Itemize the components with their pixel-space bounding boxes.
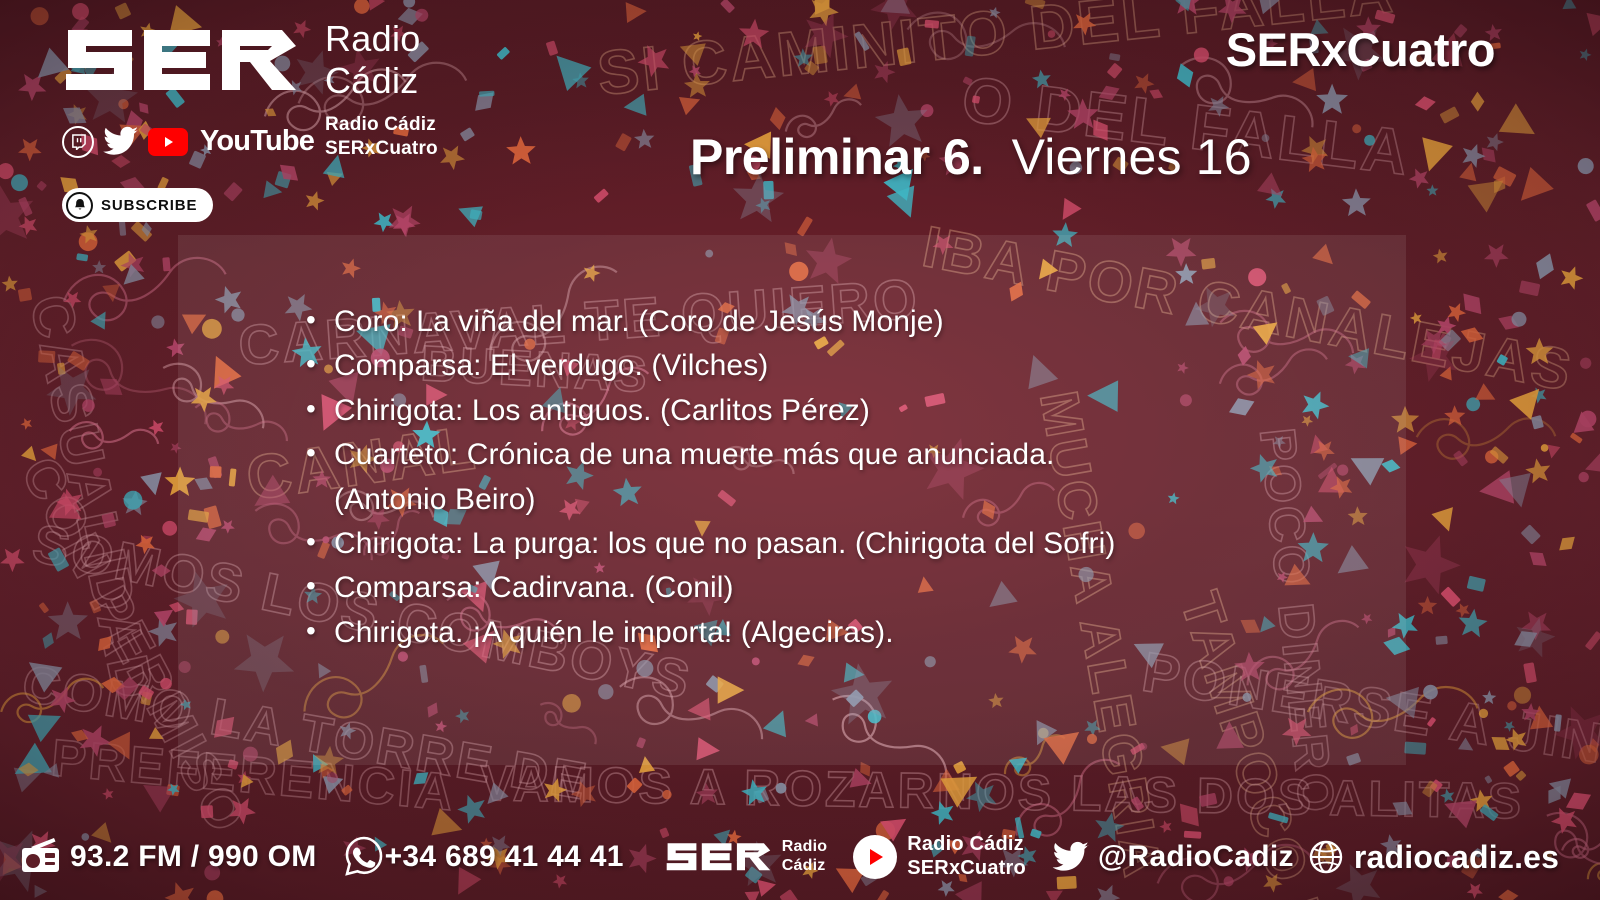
- confetti-diamond: [93, 632, 117, 656]
- confetti-star: [540, 776, 571, 806]
- lineup-item: Chirigota: Los antiguos. (Carlitos Pérez…: [300, 389, 1540, 433]
- twitter-handle: @RadioCadiz: [1098, 840, 1294, 874]
- confetti-rect: [1131, 796, 1145, 811]
- confetti-rect: [39, 602, 50, 614]
- page-title: Preliminar 6.: [690, 128, 984, 186]
- radio-icon: [18, 834, 64, 880]
- lineup-item: Chirigota. ¡A quién le importa! (Algecir…: [300, 611, 1540, 655]
- channel-line-1: Radio Cádiz: [325, 113, 500, 137]
- youtube-wordmark: YouTube: [200, 125, 314, 158]
- confetti-circle: [661, 789, 673, 801]
- bell-glyph: [73, 198, 87, 213]
- lineup-item: (Antonio Beiro): [300, 478, 1540, 522]
- confetti-diamond: [409, 767, 432, 789]
- confetti-circle: [150, 314, 166, 330]
- header: Radio Cádiz Radio Cádiz SERxCuatro YouTu…: [0, 0, 1600, 225]
- confetti-rect: [1523, 662, 1537, 683]
- confetti-triangle: [90, 307, 112, 329]
- lineup-item: Coro: La viña del mar. (Coro de Jesús Mo…: [300, 300, 1540, 344]
- confetti-triangle: [1458, 737, 1477, 756]
- confetti-circle: [159, 518, 180, 539]
- ser-logo: [60, 18, 300, 103]
- confetti-rect: [138, 685, 154, 700]
- lineup-item: Chirigota: La purga: los que no pasan. (…: [300, 522, 1540, 566]
- confetti-circle: [1421, 682, 1441, 702]
- confetti-rect: [626, 777, 642, 793]
- subscribe-button[interactable]: SUBSCRIBE: [62, 188, 213, 222]
- confetti-star: [1554, 261, 1586, 293]
- confetti-rect: [341, 784, 353, 796]
- footer-youtube-line-1: Radio Cádiz: [907, 833, 1026, 857]
- brand-line-2: Cádiz: [325, 60, 500, 102]
- ser-logo-icon: [60, 18, 300, 103]
- confetti-rect: [38, 350, 55, 363]
- confetti-circle: [1540, 443, 1550, 453]
- confetti-star: [89, 258, 108, 277]
- confetti-circle: [1577, 471, 1590, 484]
- confetti-triangle: [102, 284, 121, 303]
- confetti-circle: [1506, 700, 1519, 713]
- frequency-block: 93.2 FM / 990 OM: [18, 834, 317, 880]
- confetti-rect: [48, 547, 70, 572]
- confetti-rect: [1554, 714, 1562, 732]
- confetti-star: [738, 776, 774, 812]
- confetti-triangle: [480, 782, 509, 811]
- confetti-triangle: [136, 772, 176, 812]
- confetti-star: [0, 274, 18, 293]
- confetti-triangle: [140, 472, 166, 497]
- confetti-star: [20, 417, 32, 430]
- footer-youtube-block[interactable]: Radio Cádiz SERxCuatro: [853, 833, 1026, 880]
- website-text: radiocadiz.es: [1354, 839, 1559, 876]
- footer-twitter-block[interactable]: @RadioCadiz: [1052, 840, 1294, 874]
- ser-logo-icon-footer: [664, 837, 772, 877]
- confetti-rect: [115, 677, 139, 701]
- phone-text: +34 689 41 44 41: [385, 840, 624, 874]
- program-name: SERxCuatro: [1226, 22, 1495, 77]
- social-row: YouTube: [62, 125, 314, 158]
- lineup-list: Coro: La viña del mar. (Coro de Jesús Mo…: [300, 300, 1540, 655]
- confetti-rect: [89, 599, 101, 614]
- confetti-star: [60, 287, 84, 310]
- confetti-diamond: [152, 564, 171, 577]
- footer-ser-sub-1: Radio: [782, 838, 827, 857]
- confetti-star: [1484, 244, 1509, 268]
- confetti-star: [1482, 690, 1497, 704]
- confetti-triangle: [20, 650, 63, 693]
- confetti-diamond: [1487, 731, 1514, 756]
- confetti-star: [147, 419, 166, 438]
- confetti-circle: [1513, 686, 1531, 704]
- confetti-diamond: [1531, 250, 1559, 283]
- confetti-triangle: [21, 446, 42, 466]
- frequency-text: 93.2 FM / 990 OM: [70, 840, 317, 874]
- footer-ser-sub: Radio Cádiz: [782, 838, 827, 876]
- confetti-diamond: [1555, 531, 1580, 555]
- confetti-rect: [1570, 432, 1583, 443]
- confetti-rect: [76, 253, 88, 261]
- confetti-diamond: [94, 371, 128, 403]
- lineup-item: Cuarteto: Crónica de una muerte más que …: [300, 433, 1540, 477]
- youtube-play-glyph: [161, 134, 176, 150]
- brand-line-1: Radio: [325, 18, 500, 60]
- confetti-star-large: [42, 358, 106, 423]
- title-row: Preliminar 6. Viernes 16: [690, 128, 1252, 186]
- confetti-rect: [1484, 775, 1492, 784]
- title-date: Viernes 16: [1012, 128, 1252, 186]
- footer-ser-logo: Radio Cádiz: [664, 837, 827, 877]
- confetti-star: [49, 685, 77, 715]
- whatsapp-icon: [343, 835, 385, 879]
- confetti-rect: [1404, 741, 1426, 754]
- confetti-triangle: [39, 441, 57, 459]
- confetti-rect: [67, 351, 90, 372]
- confetti-circle: [1477, 707, 1489, 719]
- twitch-icon[interactable]: [62, 126, 94, 158]
- confetti-triangle: [236, 774, 254, 792]
- confetti-star: [693, 780, 724, 811]
- footer-youtube-line-2: SERxCuatro: [907, 857, 1026, 881]
- confetti-star: [568, 777, 603, 813]
- confetti-triangle: [107, 732, 141, 765]
- twitter-icon[interactable]: [103, 126, 139, 157]
- confetti-rect: [1519, 280, 1540, 296]
- confetti-rect: [1199, 793, 1217, 807]
- lineup-item: Comparsa: El verdugo. (Vilches): [300, 344, 1540, 388]
- confetti-star: [0, 544, 28, 575]
- youtube-icon[interactable]: [148, 128, 188, 156]
- confetti-circle: [774, 781, 789, 796]
- footer-youtube-labels: Radio Cádiz SERxCuatro: [907, 833, 1026, 880]
- twitter-icon-footer: [1052, 841, 1090, 873]
- confetti-rect: [101, 512, 116, 528]
- lineup-item: Comparsa: Cadirvana. (Conil): [300, 566, 1540, 610]
- confetti-rect: [18, 288, 32, 302]
- subscribe-label: SUBSCRIBE: [101, 197, 197, 214]
- confetti-rect: [162, 257, 170, 271]
- youtube-play-glyph-footer: [870, 849, 883, 865]
- confetti-star: [1431, 247, 1452, 268]
- confetti-diamond: [39, 630, 57, 651]
- confetti-circle: [124, 491, 143, 510]
- confetti-circle: [158, 676, 174, 692]
- bell-icon: [66, 192, 93, 219]
- footer-ser-sub-2: Cádiz: [782, 857, 827, 876]
- confetti-circle: [92, 466, 104, 478]
- brand-stack: Radio Cádiz Radio Cádiz SERxCuatro: [325, 18, 500, 162]
- twitch-glyph: [71, 134, 86, 150]
- confetti-triangle: [149, 727, 167, 745]
- confetti-rect: [1585, 631, 1600, 651]
- globe-icon: [1308, 839, 1344, 875]
- confetti-circle: [1578, 355, 1594, 371]
- channel-line-2: SERxCuatro: [325, 137, 500, 161]
- confetti-rect: [1427, 717, 1437, 728]
- footer: 93.2 FM / 990 OM +34 689 41 44 41 Radio …: [0, 814, 1600, 900]
- whatsapp-block: +34 689 41 44 41: [343, 835, 624, 879]
- youtube-icon-footer[interactable]: [853, 835, 897, 879]
- confetti-star: [102, 788, 114, 801]
- footer-website-block[interactable]: radiocadiz.es: [1308, 839, 1559, 876]
